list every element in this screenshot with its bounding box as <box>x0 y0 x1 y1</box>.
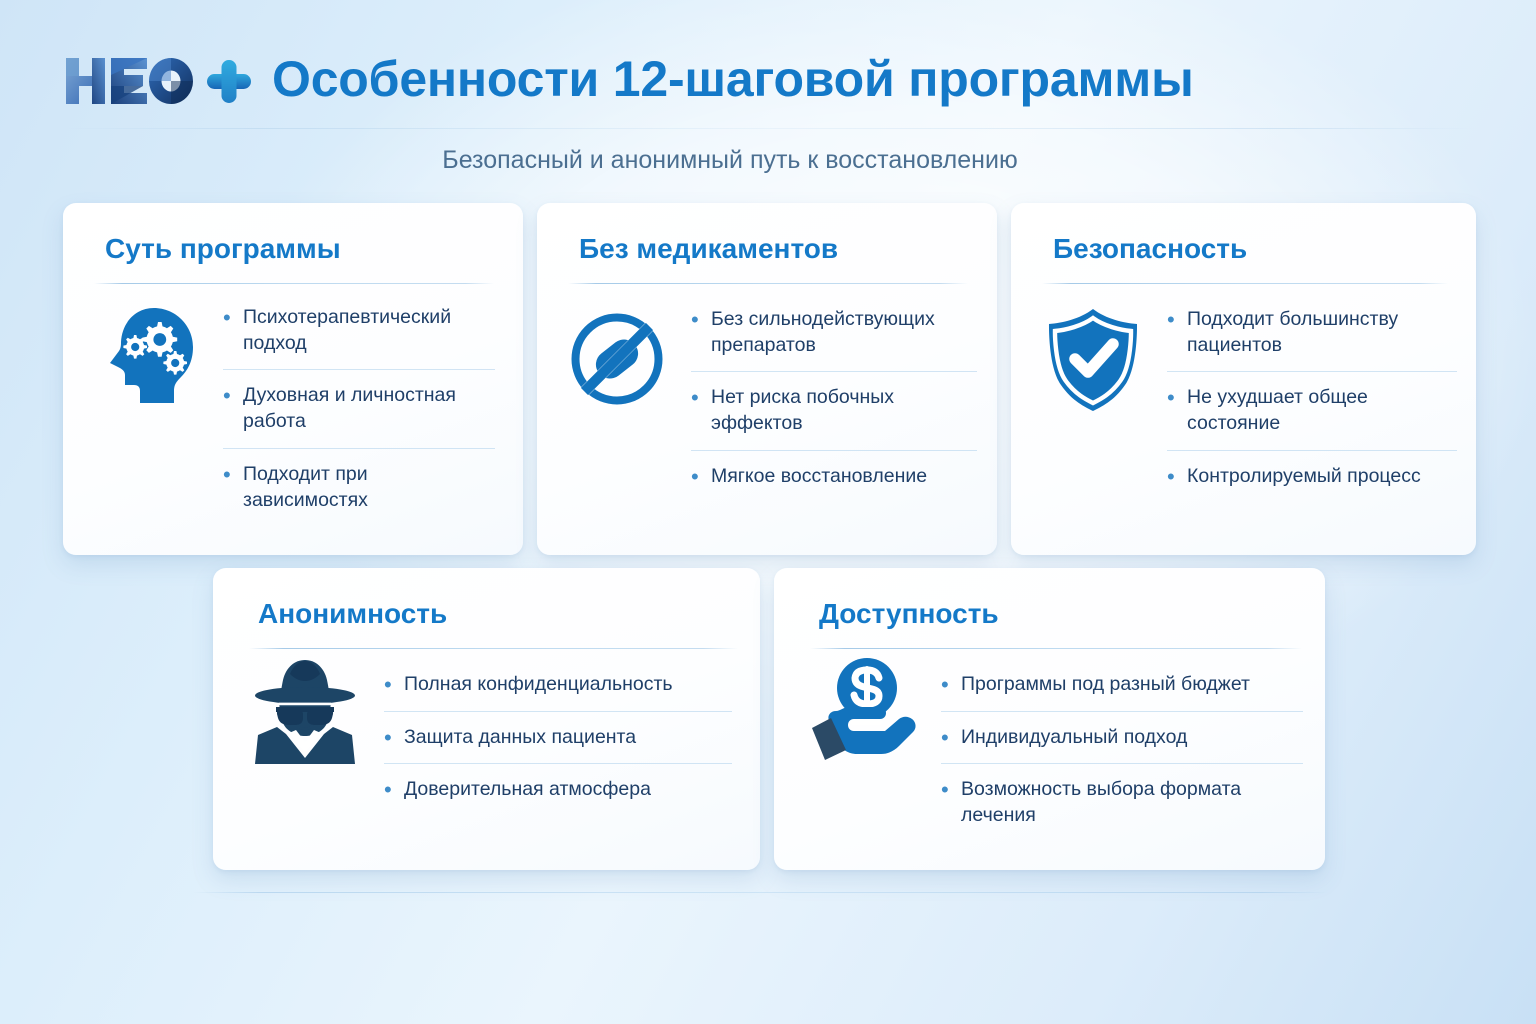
bullet-list-affordability: Программы под разный бюджет Индивидуальн… <box>941 654 1303 829</box>
no-pills-icon <box>565 307 669 411</box>
list-item: Доверительная атмосфера <box>384 777 732 803</box>
list-item: Программы под разный бюджет <box>941 672 1303 712</box>
neo-plus-logo-icon <box>63 52 253 110</box>
bullet-list-no-medications: Без сильнодействующих препаратов Нет рис… <box>691 307 977 490</box>
card-title-anonymity: Анонимность <box>258 598 447 630</box>
list-item: Подходит при зависимостях <box>223 462 495 513</box>
list-item: Духовная и личностная работа <box>223 383 495 448</box>
head-with-gears-icon <box>105 305 201 409</box>
list-item: Защита данных пациента <box>384 725 732 765</box>
card-body-essence: Психотерапевтический подход Духовная и л… <box>105 305 495 513</box>
list-item: Мягкое восстановление <box>691 464 977 490</box>
header-divider <box>60 128 1476 129</box>
bullet-list-essence: Психотерапевтический подход Духовная и л… <box>223 305 495 513</box>
card-title-safety: Безопасность <box>1053 233 1247 265</box>
card-title-divider <box>249 648 738 649</box>
card-anonymity: Анонимность <box>213 568 760 870</box>
card-body-safety: Подходит большинству пациентов Не ухудша… <box>1045 307 1457 490</box>
card-title-divider <box>810 648 1302 649</box>
card-body-anonymity: Полная конфиденциальность Защита данных … <box>252 654 732 803</box>
hand-holding-coin-icon <box>805 654 917 764</box>
list-item: Индивидуальный подход <box>941 725 1303 765</box>
page-subtitle: Безопасный и анонимный путь к восстановл… <box>0 146 1460 175</box>
footer-divider <box>193 892 1329 893</box>
list-item: Не ухудшает общее состояние <box>1167 385 1457 450</box>
list-item: Подходит большинству пациентов <box>1167 307 1457 372</box>
card-body-no-medications: Без сильнодействующих препаратов Нет рис… <box>565 307 977 490</box>
card-title-no-medications: Без медикаментов <box>579 233 838 265</box>
card-body-affordability: Программы под разный бюджет Индивидуальн… <box>805 654 1303 829</box>
list-item: Без сильнодействующих препаратов <box>691 307 977 372</box>
list-item: Контролируемый процесс <box>1167 464 1457 490</box>
list-item: Полная конфиденциальность <box>384 672 732 712</box>
card-no-medications: Без медикаментов <box>537 203 997 555</box>
card-title-divider <box>1042 283 1448 284</box>
header: Особенности 12-шаговой программы Безопас… <box>0 0 1536 130</box>
card-title-essence: Суть программы <box>105 233 341 265</box>
list-item: Возможность выбора формата лечения <box>941 777 1303 828</box>
card-essence: Суть программы <box>63 203 523 555</box>
list-item: Нет риска побочных эффектов <box>691 385 977 450</box>
list-item: Психотерапевтический подход <box>223 305 495 370</box>
card-safety: Безопасность Подходит большинству пациен… <box>1011 203 1476 555</box>
incognito-spy-icon <box>252 654 358 766</box>
infographic-canvas: Особенности 12-шаговой программы Безопас… <box>0 0 1536 1024</box>
card-affordability: Доступность Программы под разный бюджет <box>774 568 1325 870</box>
page-title: Особенности 12-шаговой программы <box>272 50 1194 109</box>
card-title-affordability: Доступность <box>819 598 999 630</box>
card-title-divider <box>94 283 494 284</box>
bullet-list-safety: Подходит большинству пациентов Не ухудша… <box>1167 307 1457 490</box>
card-title-divider <box>568 283 968 284</box>
bullet-list-anonymity: Полная конфиденциальность Защита данных … <box>384 654 732 803</box>
shield-check-icon <box>1045 307 1141 413</box>
